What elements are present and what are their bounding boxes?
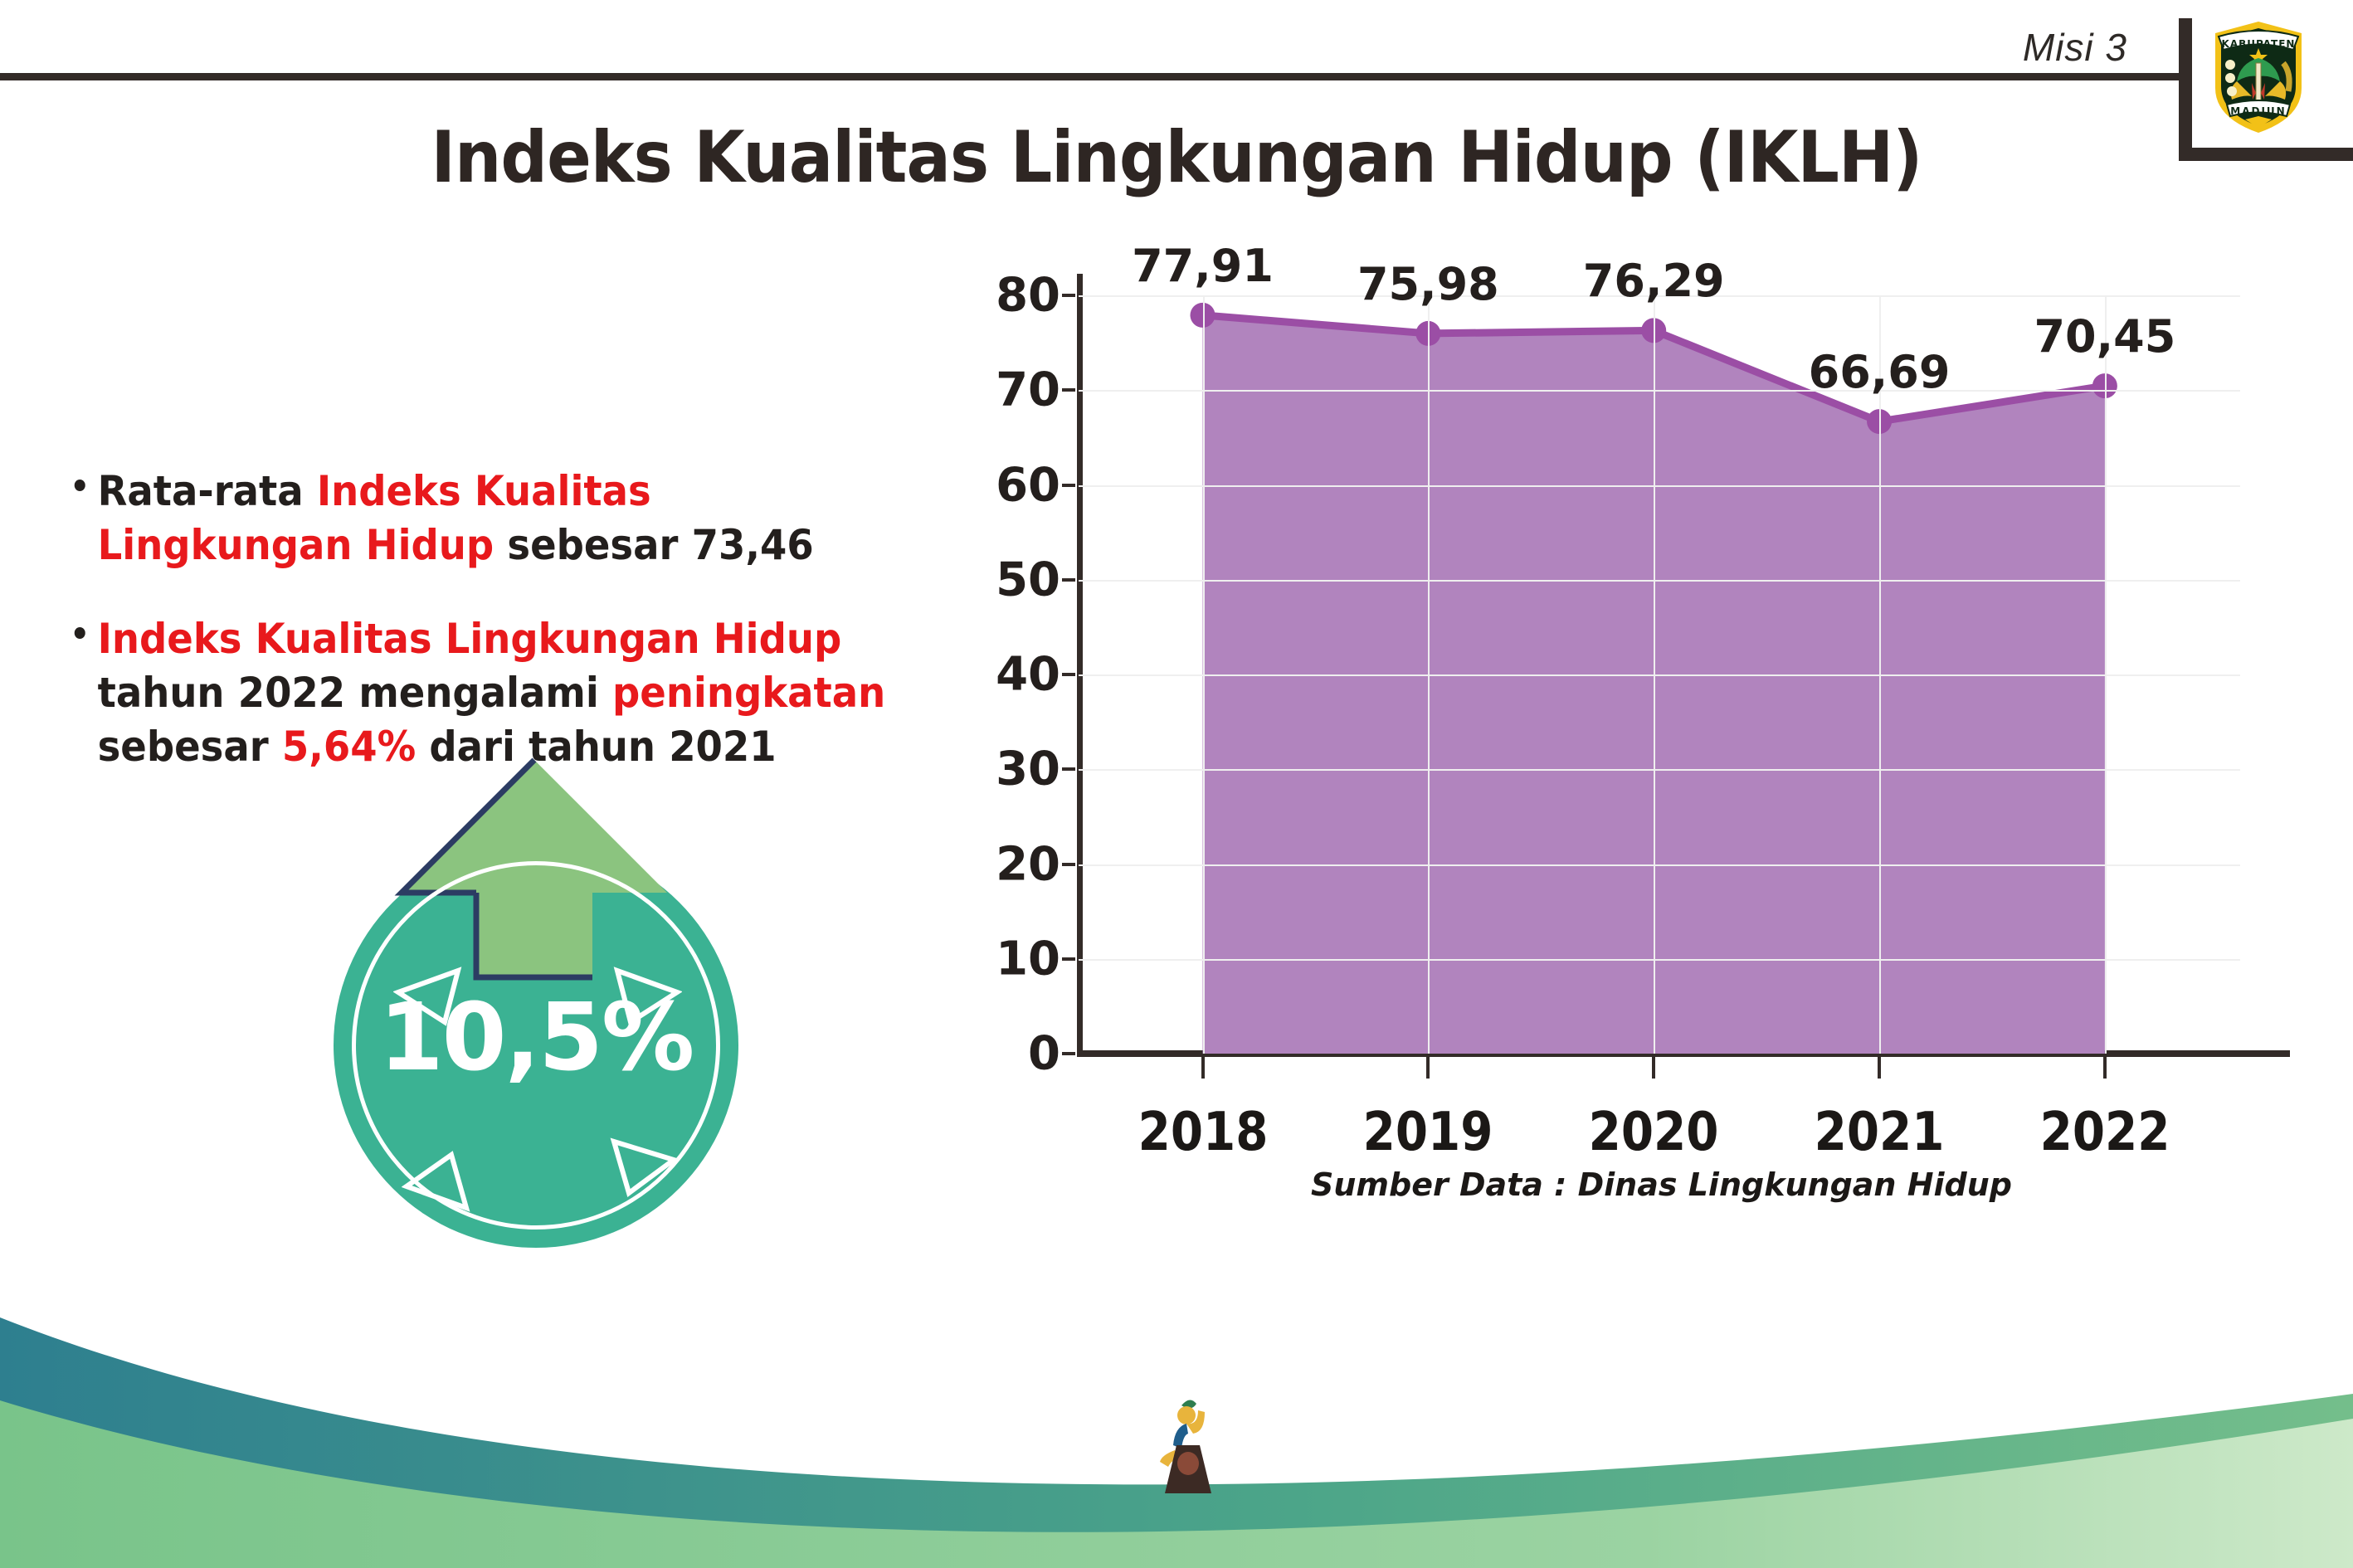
bullet-item-1: Indeks Kualitas Lingkungan Hidup tahun 2… [71,612,913,774]
x-axis-label: 2021 [1815,1102,1945,1163]
bullet-text-0: Rata-rata Indeks Kualitas Lingkungan Hid… [98,467,814,569]
bullet-1-segment-2: peningkatan [612,669,885,717]
x-axis-label: 2022 [2040,1102,2170,1163]
x-gridline [1203,295,1205,1054]
data-point-label: 75,98 [1357,258,1499,310]
bullet-dot-icon [75,627,85,639]
bullet-text-1: Indeks Kualitas Lingkungan Hidup tahun 2… [98,615,886,771]
x-axis-label: 2019 [1363,1102,1493,1163]
svg-text:KABUPATEN: KABUPATEN [2222,38,2296,50]
y-gridline [1079,674,2240,676]
y-axis-label: 80 [996,269,1060,323]
y-axis-label: 20 [996,837,1060,891]
svg-text:MADIUN: MADIUN [2230,105,2286,117]
y-tick [1062,294,1075,297]
y-gridline [1079,580,2240,582]
header-rule [0,73,2184,80]
bullet-1-segment-3: sebesar [98,723,282,771]
source-note: Sumber Data : Dinas Lingkungan Hidup [1311,1166,2012,1203]
y-tick [1062,767,1075,771]
x-gridline [1654,295,1655,1054]
chart-plot-area: 010203040506070802018201920202021202277,… [1079,295,2240,1054]
y-tick [1062,388,1075,392]
bullet-1-segment-1: tahun 2022 mengalami [98,669,612,717]
y-tick [1062,578,1075,582]
iklh-area-chart: 010203040506070802018201920202021202277,… [979,274,2273,1303]
x-tick [1878,1057,1881,1079]
x-gridline [1879,295,1881,1054]
bullet-1-segment-0: Indeks Kualitas Lingkungan Hidup [98,615,842,663]
y-gridline [1079,864,2240,866]
x-gridline [2105,295,2107,1054]
data-point-label: 77,91 [1132,240,1274,292]
x-axis-label: 2020 [1589,1102,1719,1163]
x-tick [1201,1057,1205,1079]
badge-arrow-se-icon [604,1135,679,1201]
badge-arrow-sw-icon [402,1147,476,1213]
increase-badge: 10,5% [322,753,770,1251]
bullet-item-0: Rata-rata Indeks Kualitas Lingkungan Hid… [71,465,913,572]
bullet-0-segment-2: sebesar 73,46 [494,521,813,569]
y-axis-label: 30 [996,743,1060,796]
infographic-slide: Misi 3 KABUPATEN MADIUN Indeks Kualitas … [0,0,2353,1568]
y-tick [1062,484,1075,487]
y-axis-label: 40 [996,648,1060,702]
data-point-label: 70,45 [2034,310,2175,363]
y-axis-label: 70 [996,363,1060,417]
y-axis-label: 10 [996,932,1060,986]
y-axis-label: 60 [996,458,1060,512]
y-tick [1062,1052,1075,1055]
x-tick [1652,1057,1655,1079]
bullet-dot-icon [75,480,85,491]
x-gridline [1428,295,1430,1054]
y-gridline [1079,390,2240,392]
misi-label: Misi 3 [2023,25,2127,70]
y-gridline [1079,769,2240,771]
bullet-0-segment-0: Rata-rata [98,467,317,515]
y-tick [1062,957,1075,961]
data-point-label: 76,29 [1583,255,1725,307]
y-gridline [1079,959,2240,961]
badge-value: 10,5% [334,984,738,1092]
x-tick [2103,1057,2107,1079]
y-tick [1062,673,1075,676]
y-tick [1062,863,1075,866]
data-point-label: 66,69 [1809,346,1951,398]
y-axis-label: 50 [996,553,1060,606]
x-axis-label: 2018 [1138,1102,1268,1163]
y-gridline [1079,485,2240,487]
x-tick [1426,1057,1430,1079]
statistics-mascot-icon [1153,1392,1228,1500]
y-axis-label: 0 [1028,1027,1060,1081]
page-title: Indeks Kualitas Lingkungan Hidup (IKLH) [94,116,2258,199]
